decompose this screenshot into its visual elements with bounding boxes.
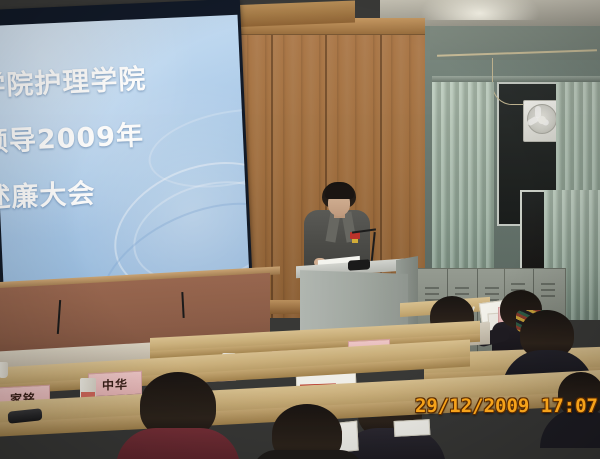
slide-text-block: 医学院护理学院 级领导2009年 职述廉大会 (0, 60, 250, 215)
audience-shoulders (252, 450, 364, 459)
projection-screen-assembly: 医学院护理学院 级领导2009年 职述廉大会 (0, 0, 253, 310)
fan-power-cord (492, 58, 533, 105)
slide-line-2: 级领导2009年 (0, 116, 250, 160)
ceiling-light-glow (420, 0, 540, 20)
audience-shoulders (116, 428, 240, 459)
fan-hub (538, 116, 546, 124)
camera-timestamp: 29/12/2009 17:07 (415, 395, 598, 417)
photograph: 医学院护理学院 级领导2009年 职述廉大会 (0, 0, 600, 459)
microphone-base (348, 259, 370, 271)
paper-cup (0, 362, 8, 378)
projection-screen: 医学院护理学院 级领导2009年 职述廉大会 (0, 15, 250, 298)
white-paper (394, 419, 431, 437)
speaker-badge-ribbon (352, 239, 358, 243)
speaker-fringe (325, 186, 354, 199)
name-placard: 中华 (88, 371, 142, 398)
slide-line-1: 医学院护理学院 (0, 60, 250, 104)
